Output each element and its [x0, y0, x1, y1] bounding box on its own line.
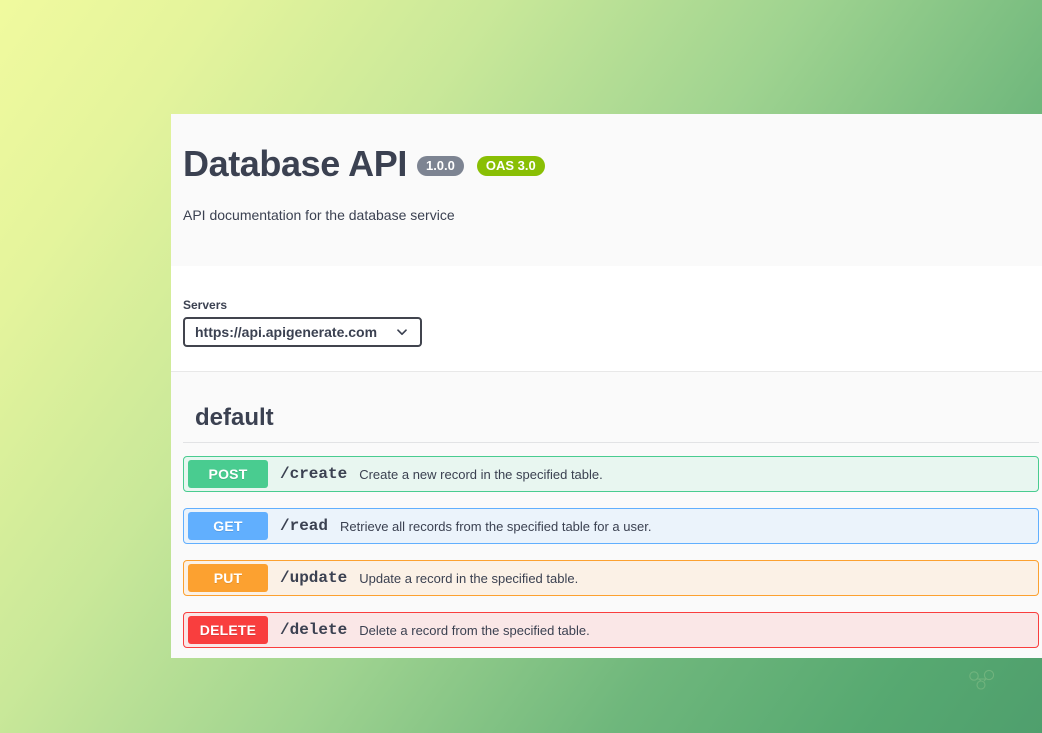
method-badge: PUT: [188, 564, 268, 592]
swagger-ui-panel: Database API 1.0.0 OAS 3.0 API documenta…: [171, 114, 1042, 658]
operation-summary: Update a record in the specified table.: [359, 571, 578, 586]
operation-path: /update: [280, 569, 347, 587]
servers-block: Servers https://api.apigenerate.com: [171, 266, 1042, 372]
operation-path: /read: [280, 517, 328, 535]
api-info-block: Database API 1.0.0 OAS 3.0 API documenta…: [171, 114, 1042, 266]
decorative-watermark: [962, 668, 1004, 692]
page-title: Database API: [183, 144, 407, 184]
chevron-down-icon: [396, 326, 408, 338]
operation-path: /create: [280, 465, 347, 483]
server-select[interactable]: https://api.apigenerate.com: [183, 317, 422, 347]
title-row: Database API 1.0.0 OAS 3.0: [183, 144, 1042, 184]
server-select-value: https://api.apigenerate.com: [195, 324, 396, 340]
operation-row-post[interactable]: POST/createCreate a new record in the sp…: [183, 456, 1039, 492]
operation-row-delete[interactable]: DELETE/deleteDelete a record from the sp…: [183, 612, 1039, 648]
version-badge: 1.0.0: [417, 156, 464, 176]
method-badge: DELETE: [188, 616, 268, 644]
operation-summary: Delete a record from the specified table…: [359, 623, 590, 638]
oas-badge: OAS 3.0: [477, 156, 545, 176]
servers-label: Servers: [183, 298, 1042, 312]
method-badge: POST: [188, 460, 268, 488]
operations-list: POST/createCreate a new record in the sp…: [183, 443, 1039, 658]
operation-row-get[interactable]: GET/readRetrieve all records from the sp…: [183, 508, 1039, 544]
api-description: API documentation for the database servi…: [183, 206, 1042, 226]
operation-summary: Create a new record in the specified tab…: [359, 467, 603, 482]
operation-summary: Retrieve all records from the specified …: [340, 519, 651, 534]
operation-path: /delete: [280, 621, 347, 639]
tag-title[interactable]: default: [183, 388, 1039, 443]
operation-row-put[interactable]: PUT/updateUpdate a record in the specifi…: [183, 560, 1039, 596]
method-badge: GET: [188, 512, 268, 540]
tag-section-default: default POST/createCreate a new record i…: [171, 372, 1042, 658]
